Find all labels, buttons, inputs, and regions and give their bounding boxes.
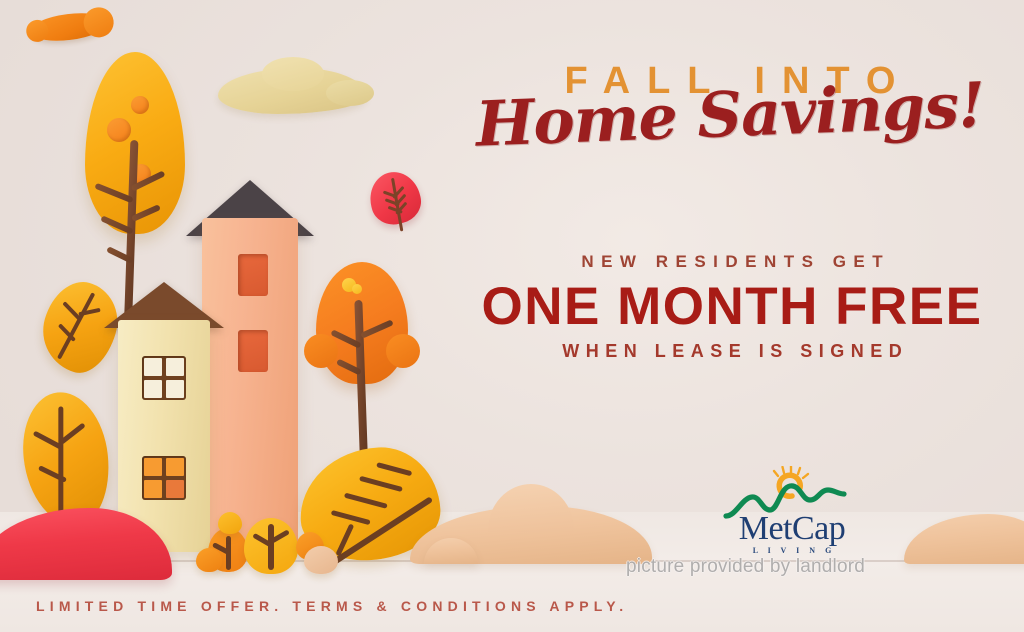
peach-house-icon — [202, 218, 298, 548]
image-watermark: picture provided by landlord — [626, 556, 865, 578]
cream-house-window-upper — [142, 356, 186, 400]
pumpkin-bush-icon — [196, 548, 222, 572]
metcap-logo-wordmark: MetCap — [722, 512, 862, 546]
headline-block: FALL INTO Home Savings! — [470, 62, 990, 145]
cream-house-window-lower — [142, 456, 186, 500]
metcap-logo: MetCap L I V I N G — [722, 466, 862, 562]
beige-pebble-icon — [304, 546, 338, 574]
orange-cloud-blob-icon — [29, 9, 110, 44]
offer-headline: ONE MONTH FREE — [452, 278, 1012, 335]
red-leaf-icon — [364, 167, 425, 230]
cream-cloud-icon — [218, 68, 366, 114]
offer-disclaimer: LIMITED TIME OFFER. TERMS & CONDITIONS A… — [36, 598, 628, 614]
offer-kicker: NEW RESIDENTS GET — [452, 252, 1012, 272]
headline-script: Home Savings! — [469, 76, 991, 155]
promo-banner: FALL INTO Home Savings! NEW RESIDENTS GE… — [0, 0, 1024, 632]
pumpkin-bush-icon — [218, 512, 242, 534]
offer-subtext: WHEN LEASE IS SIGNED — [452, 341, 1012, 362]
offer-block: NEW RESIDENTS GET ONE MONTH FREE WHEN LE… — [452, 252, 1012, 362]
metcap-logo-tagline: L I V I N G — [722, 546, 862, 555]
